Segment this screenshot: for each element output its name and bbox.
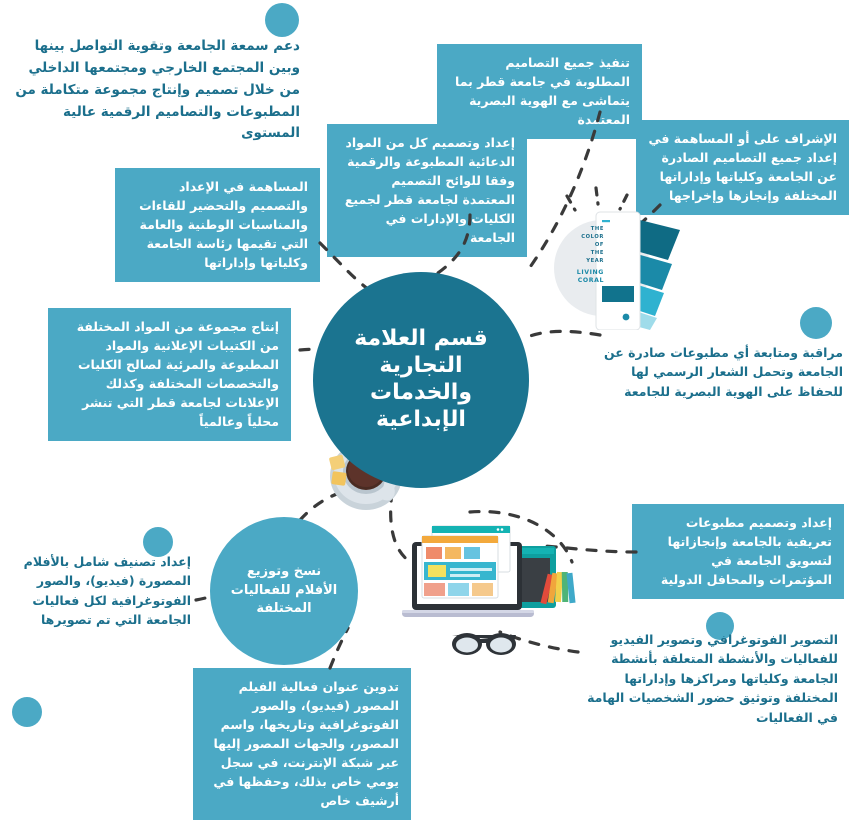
svg-text:COLOR: COLOR <box>581 234 604 240</box>
svg-text:THE: THE <box>591 226 604 232</box>
center-title: قسم العلامة التجارية والخدمات الإبداعية <box>313 326 529 433</box>
node-monitor-publications-text: مراقبة ومتابعة أي مطبوعات صادرة عن الجام… <box>604 345 843 399</box>
svg-text:THE: THE <box>591 250 604 256</box>
node-events-preparation: المساهمة في الإعداد والتصميم والتحضير لل… <box>115 168 320 282</box>
color-fan-artwork: THE COLOR OF THE YEAR LIVING CORAL <box>540 190 705 330</box>
node-classification: إعداد تصنيف شامل بالأفلام المصورة (فيديو… <box>6 552 191 630</box>
node-produce-materials-text: إنتاج مجموعة من المواد المختلفة من الكتي… <box>77 319 279 429</box>
node-archive-log: تدوين عنوان فعالية الفيلم المصور (فيديو)… <box>193 668 411 820</box>
node-photography-video: التصوير الفوتوغرافي وتصوير الفيديو للفعا… <box>570 630 838 727</box>
svg-text:OF: OF <box>595 242 604 248</box>
node-reputation-text: دعم سمعة الجامعة وتقوية التواصل بينها وب… <box>15 38 300 141</box>
infographic-canvas: THE COLOR OF THE YEAR LIVING CORAL <box>0 0 850 799</box>
svg-text:YEAR: YEAR <box>585 258 604 264</box>
node-promotional-materials-text: إعداد وتصميم كل من المواد الدعائية المطب… <box>345 135 515 245</box>
node-promotional-materials: إعداد وتصميم كل من المواد الدعائية المطب… <box>327 124 527 257</box>
eyeglasses-artwork <box>448 627 520 659</box>
dot-right-upper <box>800 307 832 339</box>
node-marketing-publications: إعداد وتصميم مطبوعات تعريفية بالجامعة وإ… <box>632 504 844 599</box>
node-execute-designs-text: تنفيذ جميع التصاميم المطلوبة في جامعة قط… <box>455 55 630 127</box>
svg-text:CORAL: CORAL <box>578 277 604 284</box>
dot-top-left <box>265 3 299 37</box>
node-produce-materials: إنتاج مجموعة من المواد المختلفة من الكتي… <box>48 308 291 441</box>
films-circle: نسخ وتوزيع الأفلام للفعاليات المختلفة <box>210 517 358 665</box>
node-classification-text: إعداد تصنيف شامل بالأفلام المصورة (فيديو… <box>24 554 191 627</box>
node-events-preparation-text: المساهمة في الإعداد والتصميم والتحضير لل… <box>139 179 308 270</box>
node-reputation: دعم سمعة الجامعة وتقوية التواصل بينها وب… <box>14 36 300 145</box>
node-marketing-publications-text: إعداد وتصميم مطبوعات تعريفية بالجامعة وإ… <box>661 515 832 587</box>
dot-bottom-left <box>12 697 42 727</box>
svg-text:LIVING: LIVING <box>577 269 604 276</box>
center-circle: قسم العلامة التجارية والخدمات الإبداعية <box>313 272 529 488</box>
films-circle-label: نسخ وتوزيع الأفلام للفعاليات المختلفة <box>210 563 358 620</box>
node-archive-log-text: تدوين عنوان فعالية الفيلم المصور (فيديو)… <box>213 679 399 808</box>
node-photography-video-text: التصوير الفوتوغرافي وتصوير الفيديو للفعا… <box>587 632 838 725</box>
node-monitor-publications: مراقبة ومتابعة أي مطبوعات صادرة عن الجام… <box>600 343 843 401</box>
laptop-artwork <box>398 518 578 633</box>
